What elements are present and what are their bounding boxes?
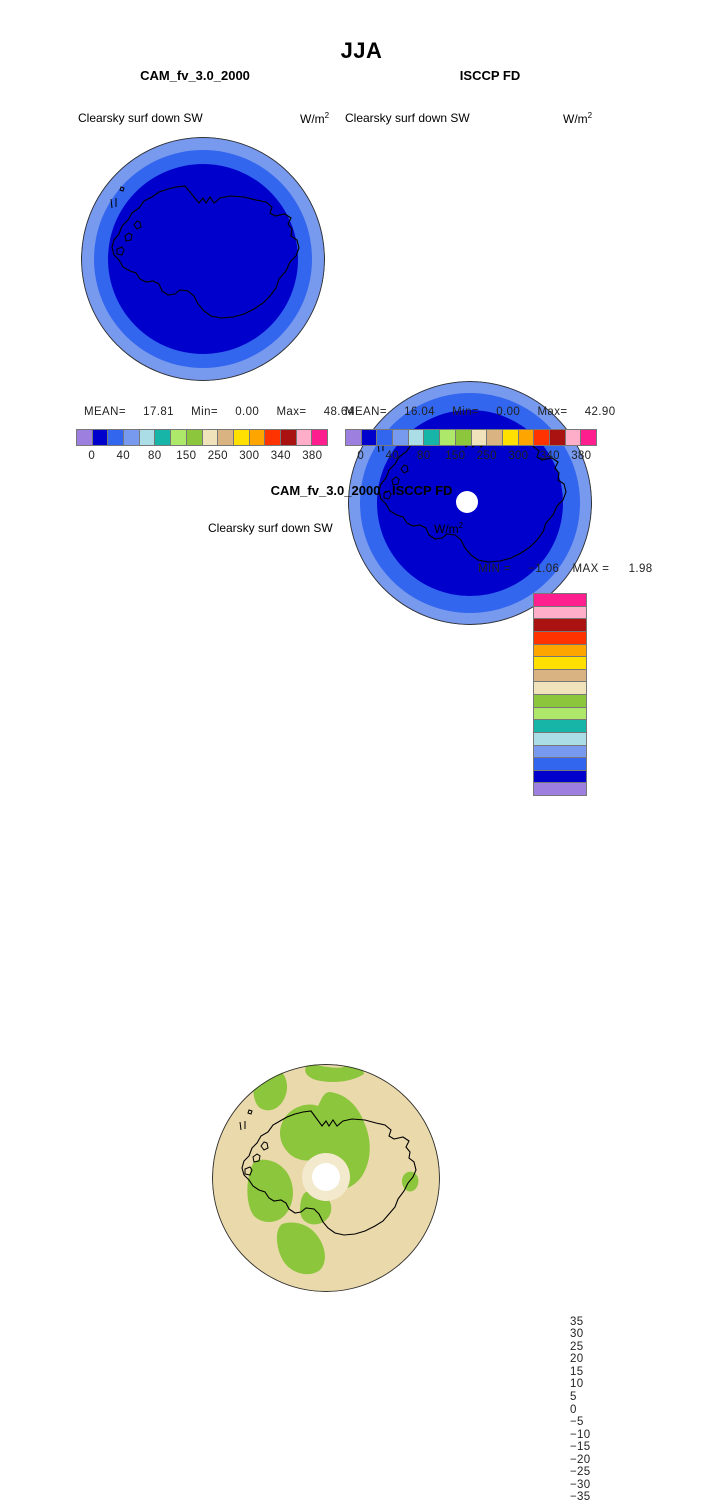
map-difference[interactable] xyxy=(212,1064,440,1292)
colorbar-model[interactable]: 04080150250300340380 xyxy=(76,429,328,466)
colorbar-swatch-15[interactable] xyxy=(581,430,596,445)
colorbar-swatch-9[interactable] xyxy=(534,708,586,721)
min-value: 0.00 xyxy=(235,406,259,418)
panel-units-model: W/m2 xyxy=(300,111,329,126)
colorbar-swatches-model[interactable] xyxy=(76,429,328,446)
colorbar-swatch-7[interactable] xyxy=(534,682,586,695)
colorbar-tick-5: 300 xyxy=(239,450,259,462)
mean-value: 17.81 xyxy=(143,406,174,418)
panel-units-difference: W/m2 xyxy=(434,521,463,536)
colorbar-swatch-5[interactable] xyxy=(534,657,586,670)
variable-label-text: Clearsky surf down SW xyxy=(208,521,333,535)
colorbar-tick-3: 150 xyxy=(445,450,465,462)
colorbar-swatch-4[interactable] xyxy=(409,430,425,445)
colorbar-vtick-13: −30 xyxy=(570,1479,590,1491)
max-label: MAX = xyxy=(573,563,610,575)
colorbar-swatch-14[interactable] xyxy=(566,430,582,445)
colorbar-swatch-1[interactable] xyxy=(93,430,109,445)
colorbar-difference[interactable] xyxy=(533,593,587,796)
colorbar-tick-6: 340 xyxy=(271,450,291,462)
colorbar-swatch-14[interactable] xyxy=(297,430,313,445)
colorbar-ticklabels-difference: 35302520151050−5−10−15−20−25−30−35 xyxy=(570,1309,616,1510)
colorbar-tick-0: 0 xyxy=(357,450,364,462)
colorbar-vtick-14: −35 xyxy=(570,1491,590,1503)
colorbar-swatch-11[interactable] xyxy=(519,430,535,445)
colorbar-swatch-6[interactable] xyxy=(171,430,187,445)
units-exponent: 2 xyxy=(459,521,463,530)
colorbar-tick-5: 300 xyxy=(508,450,528,462)
colorbar-tick-7: 380 xyxy=(571,450,591,462)
mean-label: MEAN= xyxy=(345,406,387,418)
panel-title-model: CAM_fv_3.0_2000 xyxy=(60,68,330,83)
units-text: W/m xyxy=(434,522,459,536)
colorbar-swatch-11[interactable] xyxy=(534,733,586,746)
colorbar-swatch-2[interactable] xyxy=(108,430,124,445)
colorbar-swatch-4[interactable] xyxy=(140,430,156,445)
colorbar-swatch-15[interactable] xyxy=(312,430,327,445)
stats-obs: MEAN= 16.04 Min= 0.00 Max= 42.90 xyxy=(345,406,616,418)
colorbar-tick-2: 80 xyxy=(417,450,430,462)
units-exponent: 2 xyxy=(325,111,329,120)
colorbar-tick-2: 80 xyxy=(148,450,161,462)
colorbar-swatch-3[interactable] xyxy=(534,632,586,645)
colorbar-vtick-5: 10 xyxy=(570,1378,583,1390)
colorbar-tick-0: 0 xyxy=(88,450,95,462)
colorbar-vtick-3: 20 xyxy=(570,1353,583,1365)
colorbar-swatch-10[interactable] xyxy=(503,430,519,445)
colorbar-swatch-13[interactable] xyxy=(534,758,586,771)
colorbar-swatch-10[interactable] xyxy=(534,720,586,733)
colorbar-ticklabels-model: 04080150250300340380 xyxy=(76,450,328,466)
map-model[interactable] xyxy=(81,137,325,381)
colorbar-swatch-1[interactable] xyxy=(362,430,378,445)
max-label: Max= xyxy=(537,406,567,418)
colorbar-swatch-12[interactable] xyxy=(534,746,586,759)
colorbar-swatch-9[interactable] xyxy=(487,430,503,445)
map-outline-model xyxy=(81,137,325,381)
units-exponent: 2 xyxy=(588,111,592,120)
map-outline-difference xyxy=(212,1064,440,1292)
colorbar-swatch-0[interactable] xyxy=(346,430,362,445)
colorbar-ticklabels-obs: 04080150250300340380 xyxy=(345,450,597,466)
colorbar-swatch-0[interactable] xyxy=(77,430,93,445)
colorbar-vtick-12: −25 xyxy=(570,1466,590,1478)
variable-label-text: Clearsky surf down SW xyxy=(78,111,203,125)
colorbar-swatch-7[interactable] xyxy=(187,430,203,445)
mean-label: MEAN= xyxy=(84,406,126,418)
colorbar-swatch-9[interactable] xyxy=(218,430,234,445)
colorbar-tick-3: 150 xyxy=(176,450,196,462)
colorbar-tick-1: 40 xyxy=(117,450,130,462)
mean-value: 16.04 xyxy=(404,406,435,418)
colorbar-swatch-13[interactable] xyxy=(281,430,297,445)
colorbar-vtick-10: −15 xyxy=(570,1441,590,1453)
colorbar-swatch-3[interactable] xyxy=(124,430,140,445)
colorbar-swatch-6[interactable] xyxy=(534,670,586,683)
colorbar-swatch-12[interactable] xyxy=(534,430,550,445)
colorbar-tick-4: 250 xyxy=(477,450,497,462)
colorbar-swatch-8[interactable] xyxy=(472,430,488,445)
colorbar-swatch-6[interactable] xyxy=(440,430,456,445)
min-label: MIN = xyxy=(478,563,511,575)
colorbar-swatches-difference[interactable] xyxy=(533,593,587,796)
units-text: W/m xyxy=(563,112,588,126)
variable-label-text: Clearsky surf down SW xyxy=(345,111,470,125)
colorbar-swatch-10[interactable] xyxy=(234,430,250,445)
units-text: W/m xyxy=(300,112,325,126)
colorbar-swatch-11[interactable] xyxy=(250,430,266,445)
colorbar-swatch-5[interactable] xyxy=(424,430,440,445)
colorbar-swatch-7[interactable] xyxy=(456,430,472,445)
min-value: 0.00 xyxy=(496,406,520,418)
panel-title-difference: CAM_fv_3.0_2000 - ISCCP FD xyxy=(0,483,723,498)
min-value: −1.06 xyxy=(528,563,559,575)
min-label: Min= xyxy=(191,406,218,418)
colorbar-vtick-11: −20 xyxy=(570,1454,590,1466)
colorbar-vtick-4: 15 xyxy=(570,1366,583,1378)
colorbar-vtick-8: −5 xyxy=(570,1416,584,1428)
colorbar-swatch-2[interactable] xyxy=(534,619,586,632)
colorbar-swatch-3[interactable] xyxy=(393,430,409,445)
colorbar-vtick-6: 5 xyxy=(570,1391,577,1403)
colorbar-tick-6: 340 xyxy=(540,450,560,462)
colorbar-swatch-5[interactable] xyxy=(155,430,171,445)
colorbar-swatches-obs[interactable] xyxy=(345,429,597,446)
colorbar-vtick-7: 0 xyxy=(570,1404,577,1416)
colorbar-swatch-8[interactable] xyxy=(203,430,219,445)
max-value: 42.90 xyxy=(585,406,616,418)
colorbar-swatch-8[interactable] xyxy=(534,695,586,708)
colorbar-swatch-4[interactable] xyxy=(534,645,586,658)
colorbar-swatch-12[interactable] xyxy=(265,430,281,445)
min-label: Min= xyxy=(452,406,479,418)
colorbar-swatch-14[interactable] xyxy=(534,771,586,784)
colorbar-swatch-13[interactable] xyxy=(550,430,566,445)
figure-main-title: JJA xyxy=(0,38,723,64)
panel-variable-label-difference: Clearsky surf down SW xyxy=(208,521,333,535)
colorbar-swatch-1[interactable] xyxy=(534,607,586,620)
panel-variable-label-model: Clearsky surf down SW xyxy=(78,111,203,125)
max-label: Max= xyxy=(276,406,306,418)
colorbar-swatch-15[interactable] xyxy=(534,783,586,795)
colorbar-tick-1: 40 xyxy=(386,450,399,462)
max-value: 1.98 xyxy=(629,563,653,575)
colorbar-obs[interactable]: 04080150250300340380 xyxy=(345,429,597,466)
colorbar-vtick-2: 25 xyxy=(570,1341,583,1353)
panel-title-obs: ISCCP FD xyxy=(390,68,590,83)
colorbar-swatch-0[interactable] xyxy=(534,594,586,607)
panel-units-obs: W/m2 xyxy=(563,111,592,126)
colorbar-vtick-1: 30 xyxy=(570,1328,583,1340)
colorbar-vtick-9: −10 xyxy=(570,1429,590,1441)
stats-difference: MIN = −1.06 MAX = 1.98 xyxy=(478,563,653,575)
colorbar-tick-7: 380 xyxy=(302,450,322,462)
stats-model: MEAN= 17.81 Min= 0.00 Max= 48.64 xyxy=(84,406,355,418)
colorbar-swatch-2[interactable] xyxy=(377,430,393,445)
panel-variable-label-obs: Clearsky surf down SW xyxy=(345,111,470,125)
colorbar-tick-4: 250 xyxy=(208,450,228,462)
colorbar-vtick-0: 35 xyxy=(570,1316,583,1328)
